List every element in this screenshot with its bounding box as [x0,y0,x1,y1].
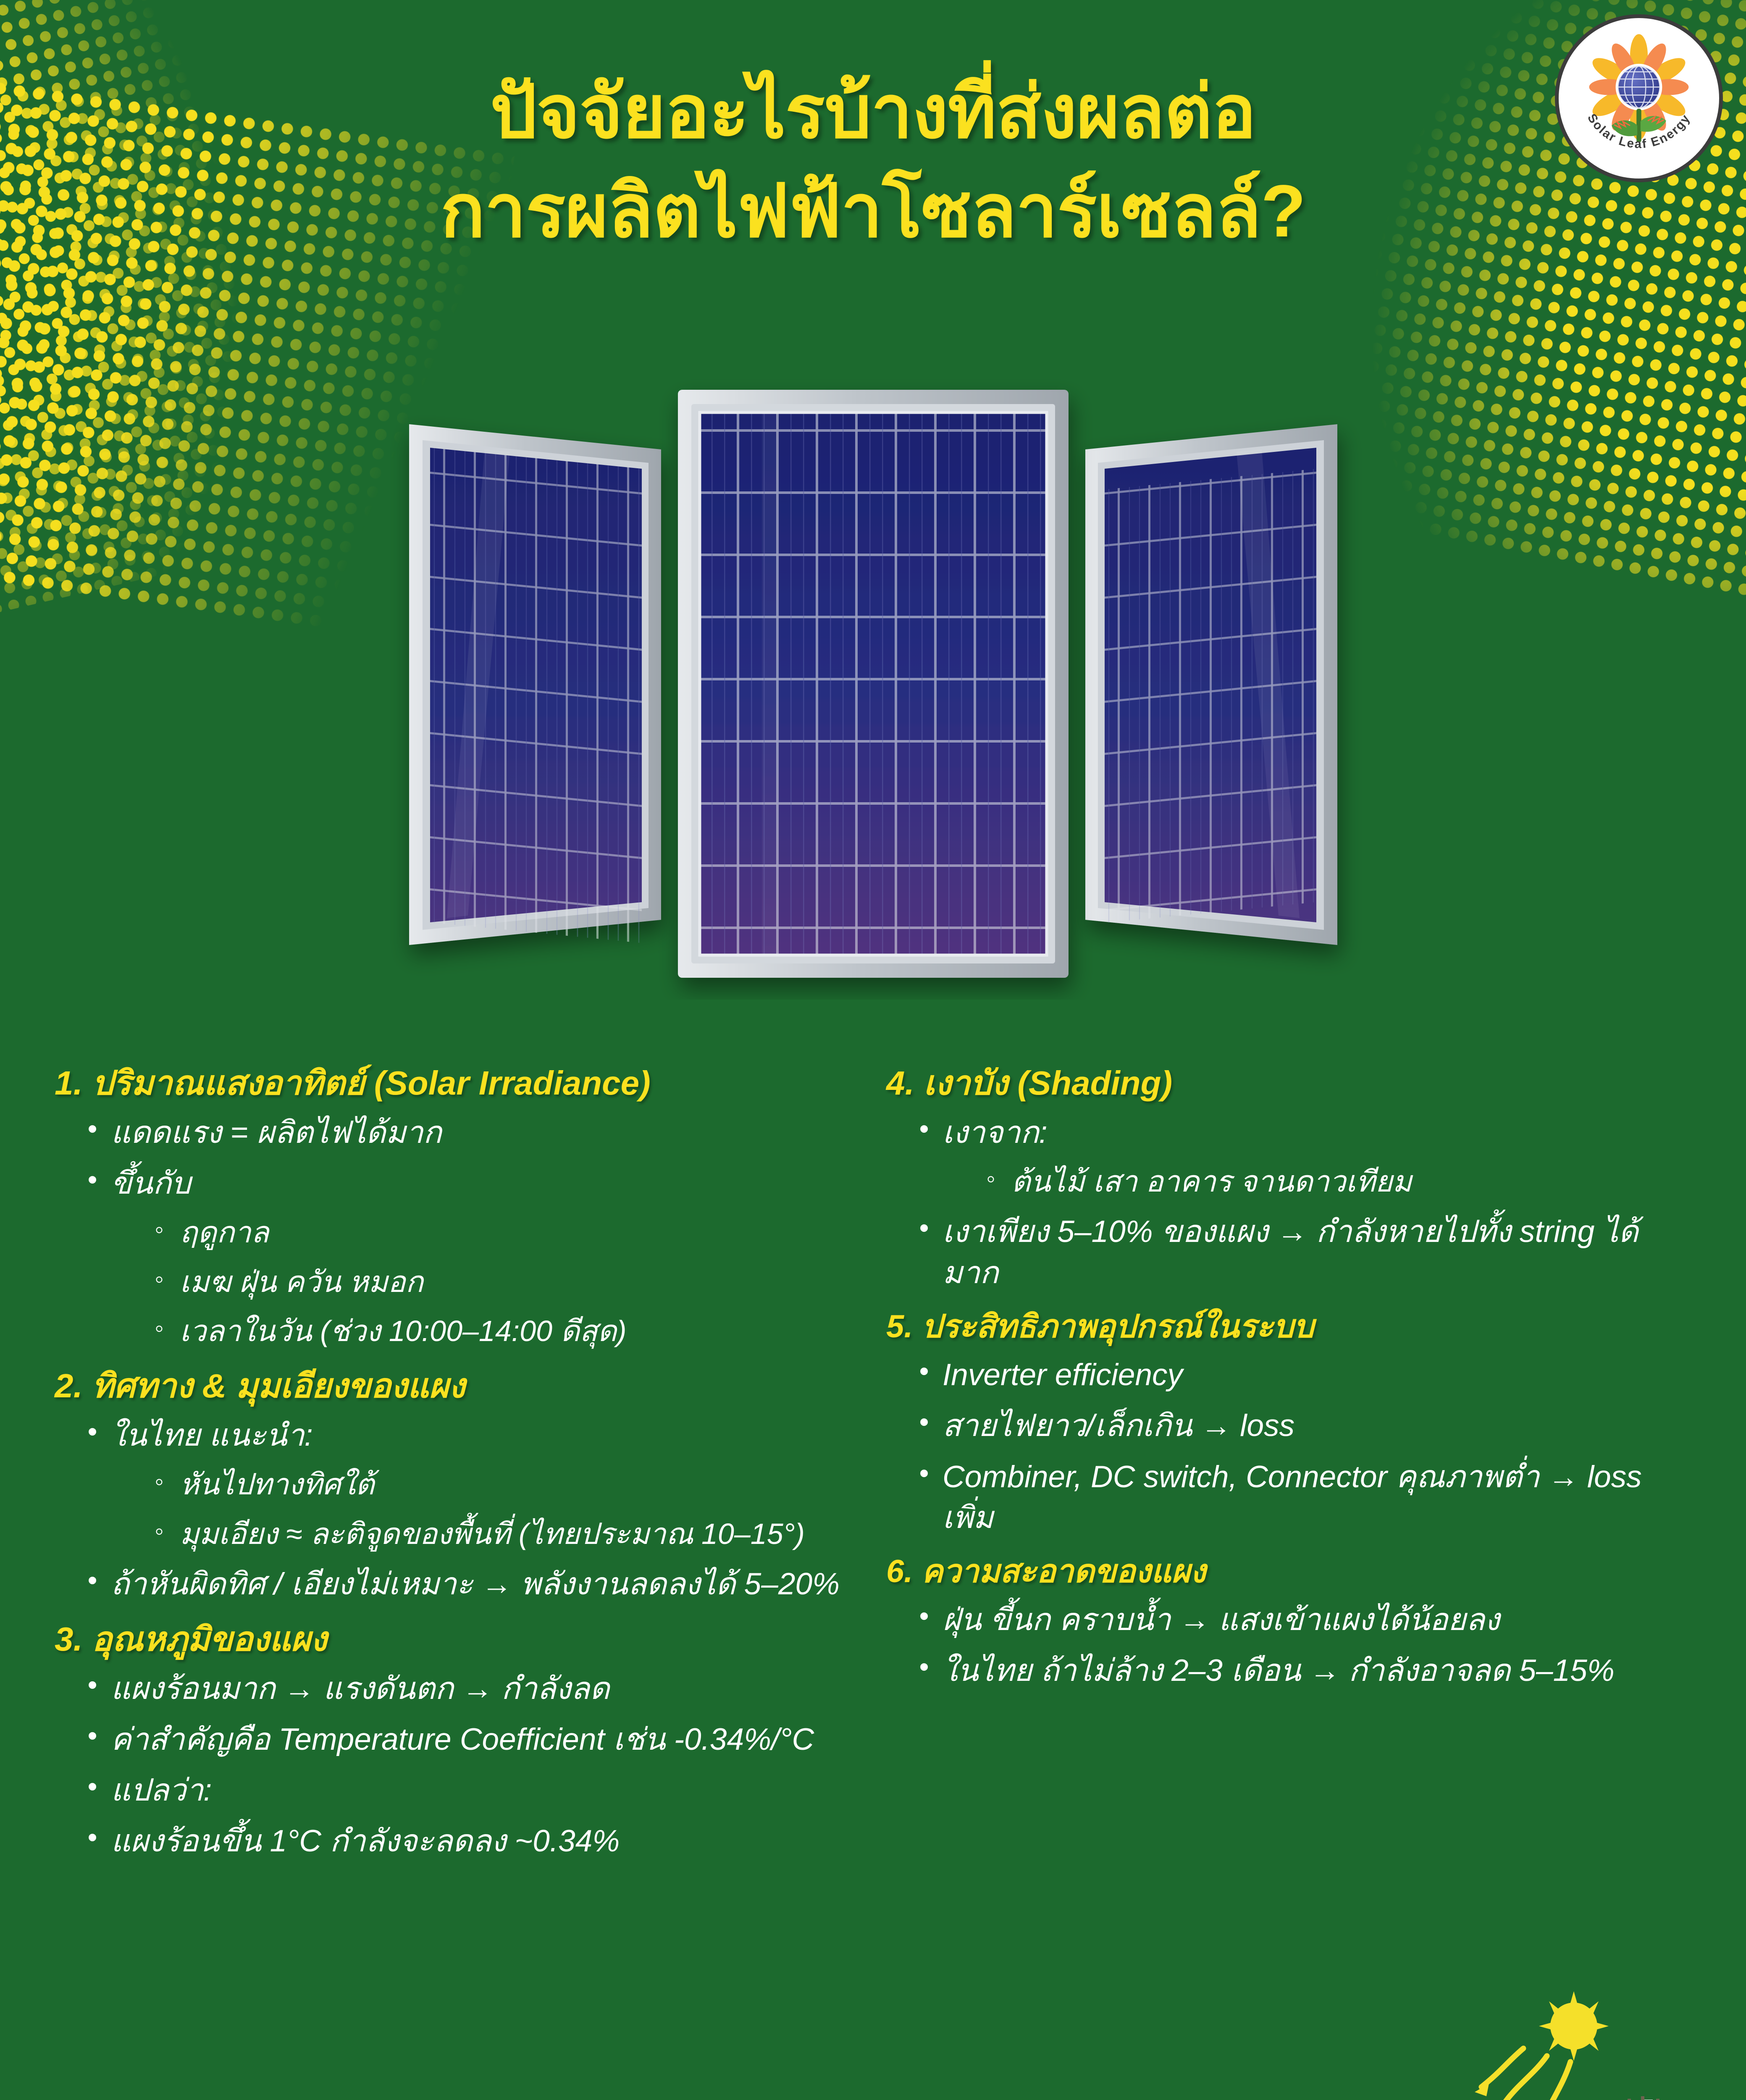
section-3-bullets: แผงร้อนมาก → แรงดันตก → กำลังลด ค่าสำคัญ… [55,1668,853,1861]
bullet-text: แดดแรง = ผลิตไฟได้มาก [111,1116,442,1150]
bullet-text: ขึ้นกับ [111,1166,191,1200]
sub-list: หันไปทางทิศใต้ มุมเอียง ≈ ละติจูดของพื้น… [111,1465,853,1554]
section-heading-3: 3. อุณหภูมิของแผง [55,1619,853,1660]
section-6-bullets: ฝุ่น ขี้นก คราบน้ำ → แสงเข้าแผงได้น้อยลง… [886,1599,1676,1691]
list-item: ในไทย ถ้าไม่ล้าง 2–3 เดือน → กำลังอาจลด … [919,1650,1676,1691]
list-item: แปลว่า: [87,1770,853,1811]
list-item: ค่าสำคัญคือ Temperature Coefficient เช่น… [87,1719,853,1760]
utility-pole-icon [1594,2096,1674,2100]
section-heading-6: 6. ความสะอาดของแผง [886,1552,1676,1591]
section-5-bullets: Inverter efficiency สายไฟยาว/เล็กเกิน → … [886,1354,1676,1538]
sub-list: ต้นไม้ เสา อาคาร จานดาวเทียม [943,1162,1676,1202]
list-item: เงาเพียง 5–10% ของแผง → กำลังหายไปทั้ง s… [919,1211,1676,1293]
three-solar-panels-icon [384,370,1363,1000]
title-line-2: การผลิตไฟฟ้าโซลาร์เซลล์? [0,162,1746,261]
sub-list-item: ฤดูกาล [155,1213,853,1252]
isometric-house-icon [1103,1965,1733,2100]
list-item: แผงร้อนขึ้น 1°C กำลังจะลดลง ~0.34% [87,1821,853,1861]
bullet-text: ในไทย แนะนำ: [111,1418,313,1452]
infographic-poster: Solar Leaf Energy ปัจจัยอะไรบ้างที่ส่งผล… [0,0,1746,2100]
list-item: Inverter efficiency [919,1354,1676,1395]
sunlight-arrows-icon [1481,2048,1570,2100]
sub-list-item: ต้นไม้ เสา อาคาร จานดาวเทียม [986,1162,1676,1202]
solar-panels-illustration [384,370,1363,1000]
section-heading-5: 5. ประสิทธิภาพอุปกรณ์ในระบบ [886,1307,1676,1347]
section-2-bullets: ในไทย แนะนำ: หันไปทางทิศใต้ มุมเอียง ≈ ล… [55,1415,853,1605]
title-line-1: ปัจจัยอะไรบ้างที่ส่งผลต่อ [0,63,1746,162]
page-title: ปัจจัยอะไรบ้างที่ส่งผลต่อ การผลิตไฟฟ้าโซ… [0,63,1746,261]
list-item: ในไทย แนะนำ: หันไปทางทิศใต้ มุมเอียง ≈ ล… [87,1415,853,1554]
sub-list: ฤดูกาล เมฆ ฝุ่น ควัน หมอก เวลาในวัน (ช่ว… [111,1213,853,1351]
list-item: Combiner, DC switch, Connector คุณภาพต่ำ… [919,1457,1676,1538]
solar-panel-center [678,390,1069,978]
solar-leaf-energy-logo-icon: Solar Leaf Energy [1559,18,1719,178]
solar-panel-left [409,424,661,945]
list-item: แดดแรง = ผลิตไฟได้มาก [87,1112,853,1153]
section-heading-2: 2. ทิศทาง & มุมเอียงของแผง [55,1365,853,1407]
section-heading-1: 1. ปริมาณแสงอาทิตย์ (Solar Irradiance) [55,1063,853,1104]
bullet-text: เงาจาก: [943,1116,1048,1150]
content-columns: 1. ปริมาณแสงอาทิตย์ (Solar Irradiance) แ… [0,1063,1746,1876]
solar-panel-right [1085,424,1337,945]
section-4-bullets: เงาจาก: ต้นไม้ เสา อาคาร จานดาวเทียม เงา… [886,1112,1676,1293]
section-heading-4: 4. เงาบัง (Shading) [886,1063,1676,1104]
sub-list-item: เมฆ ฝุ่น ควัน หมอก [155,1263,853,1302]
sub-list-item: หันไปทางทิศใต้ [155,1465,853,1504]
list-item: เงาจาก: ต้นไม้ เสา อาคาร จานดาวเทียม [919,1112,1676,1202]
column-left: 1. ปริมาณแสงอาทิตย์ (Solar Irradiance) แ… [55,1063,853,1876]
house-solar-illustration [1103,1965,1733,2100]
list-item: ถ้าหันผิดทิศ / เอียงไม่เหมาะ → พลังงานลด… [87,1564,853,1604]
brand-logo-badge[interactable]: Solar Leaf Energy [1555,14,1723,182]
sub-list-item: เวลาในวัน (ช่วง 10:00–14:00 ดีสุด) [155,1312,853,1351]
sub-list-item: มุมเอียง ≈ ละติจูดของพื้นที่ (ไทยประมาณ … [155,1515,853,1554]
sun-icon [1539,1991,1609,2061]
list-item: แผงร้อนมาก → แรงดันตก → กำลังลด [87,1668,853,1709]
column-right: 4. เงาบัง (Shading) เงาจาก: ต้นไม้ เสา อ… [886,1063,1676,1876]
section-1-bullets: แดดแรง = ผลิตไฟได้มาก ขึ้นกับ ฤดูกาล เมฆ… [55,1112,853,1352]
list-item: ขึ้นกับ ฤดูกาล เมฆ ฝุ่น ควัน หมอก เวลาใน… [87,1163,853,1351]
list-item: ฝุ่น ขี้นก คราบน้ำ → แสงเข้าแผงได้น้อยลง [919,1599,1676,1640]
list-item: สายไฟยาว/เล็กเกิน → loss [919,1405,1676,1446]
